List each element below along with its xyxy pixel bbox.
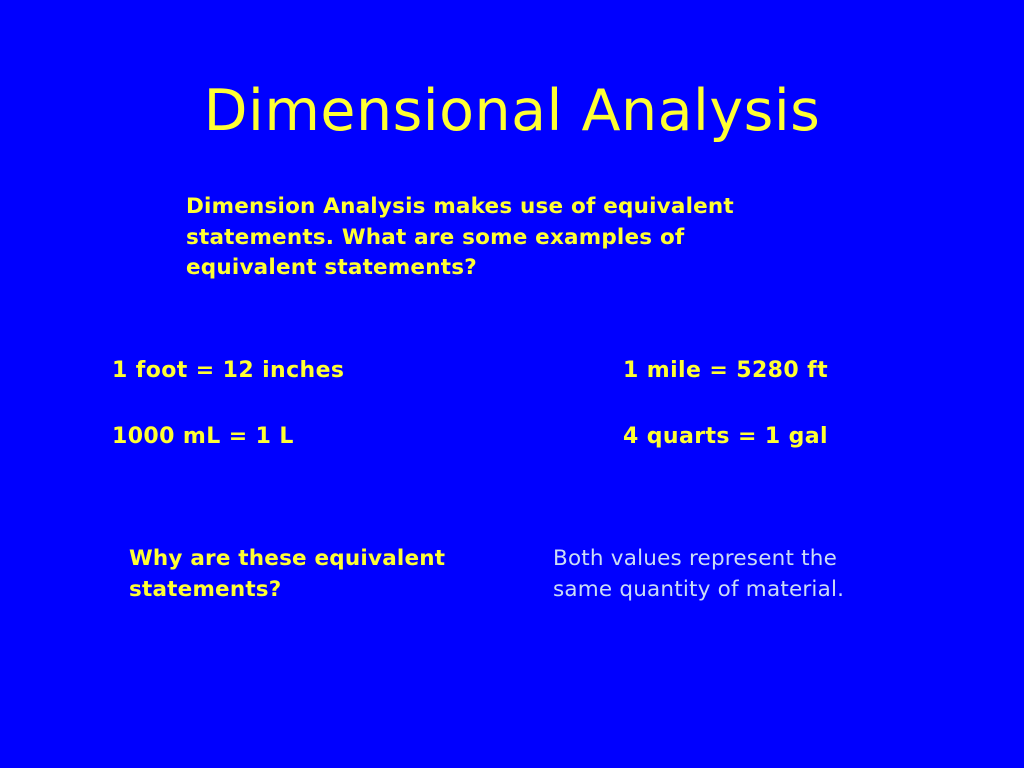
qa-answer-text: Both values represent the same quantity …	[553, 544, 883, 605]
equivalence-row: 1 foot = 12 inches 1 mile = 5280 ft	[0, 358, 1024, 392]
page-title: Dimensional Analysis	[0, 82, 1024, 142]
equivalence-right-0: 1 mile = 5280 ft	[623, 358, 828, 383]
presentation-slide: Dimensional Analysis Dimension Analysis …	[0, 0, 1024, 768]
equivalence-left-1: 1000 mL = 1 L	[112, 424, 294, 449]
intro-paragraph: Dimension Analysis makes use of equivale…	[186, 192, 816, 284]
equivalence-right-1: 4 quarts = 1 gal	[623, 424, 828, 449]
equivalence-left-0: 1 foot = 12 inches	[112, 358, 344, 383]
qa-question-text: Why are these equivalent statements?	[129, 544, 519, 605]
equivalence-row: 1000 mL = 1 L 4 quarts = 1 gal	[0, 424, 1024, 458]
